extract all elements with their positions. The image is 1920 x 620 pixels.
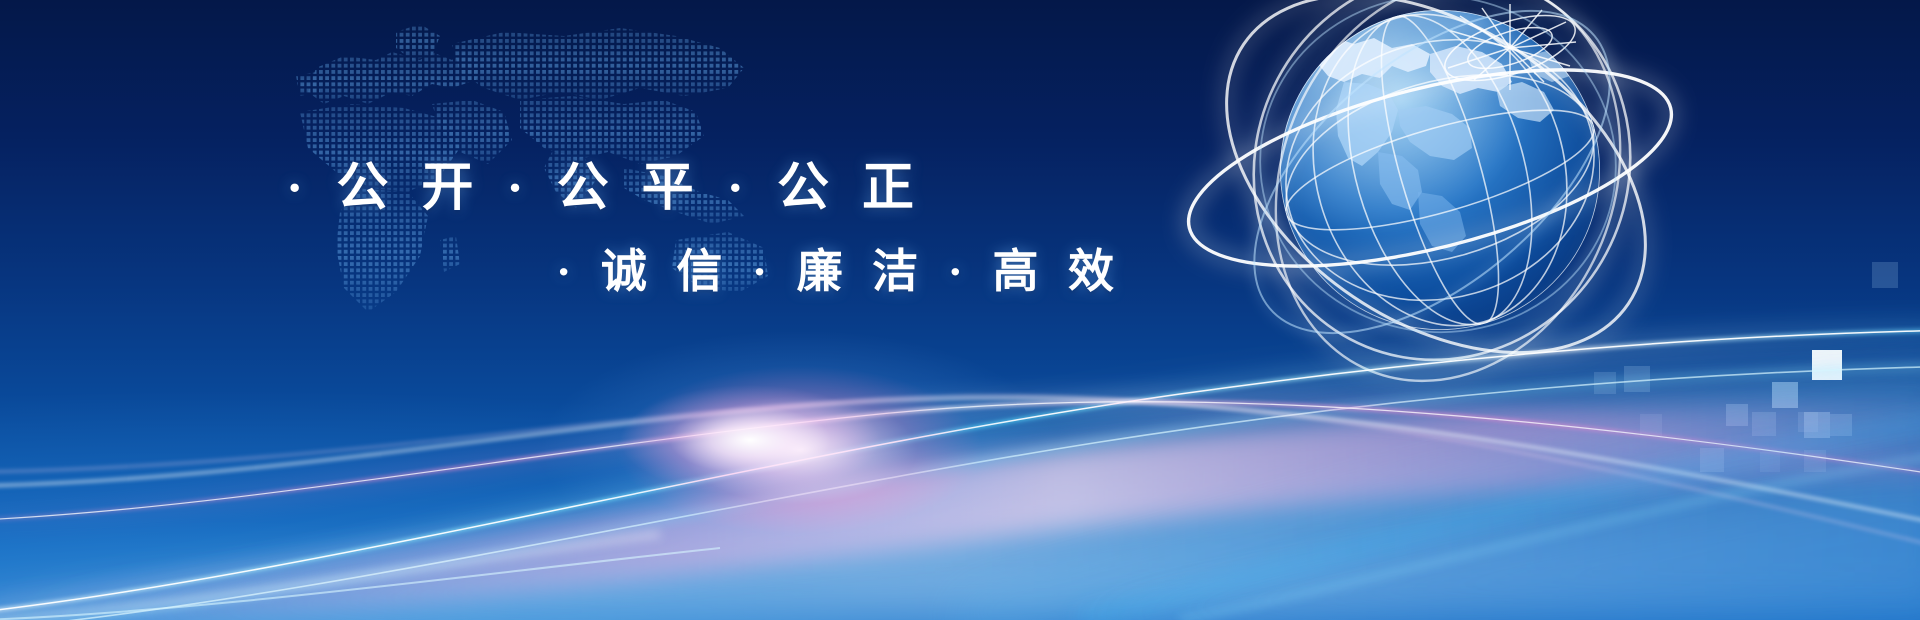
light-wave-graphic xyxy=(0,290,1920,620)
world-map-svg xyxy=(40,8,800,338)
light-wave-svg xyxy=(0,290,1920,620)
mosaic-square xyxy=(1872,262,1898,288)
banner-root: · 公 开 · 公 平 · 公 正 · 诚 信 · 廉 洁 · 高 效 xyxy=(0,0,1920,620)
world-map-dots xyxy=(40,8,800,338)
